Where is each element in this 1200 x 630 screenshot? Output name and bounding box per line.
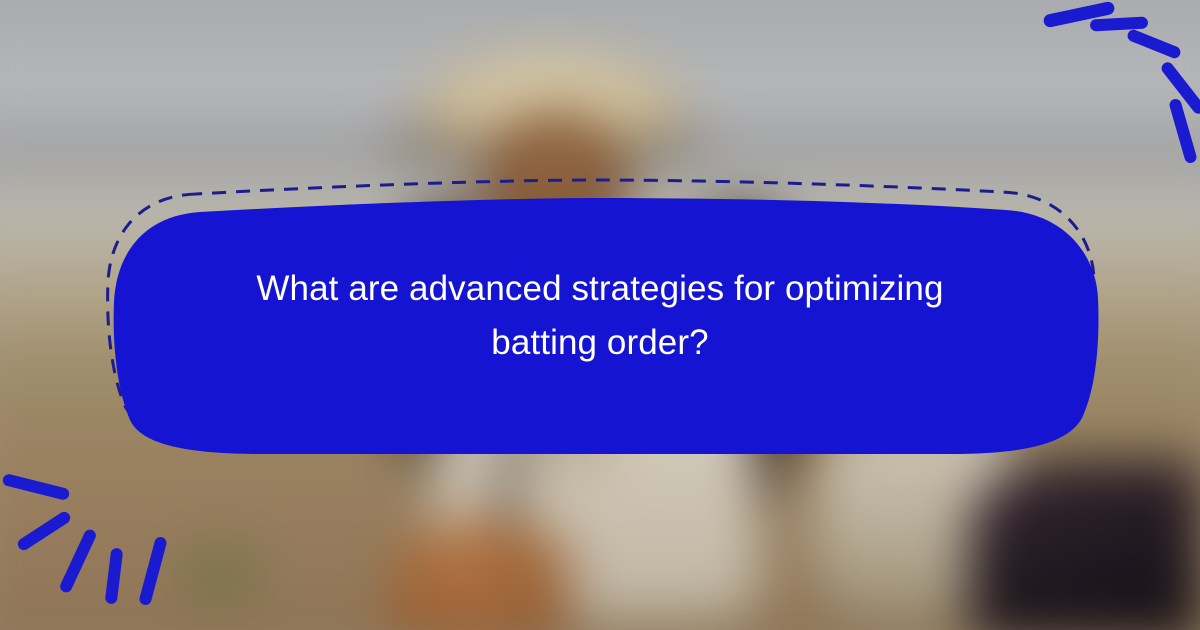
foreground-green-shape (180, 545, 260, 600)
question-headline: What are advanced strategies for optimiz… (206, 262, 994, 371)
foreground-dark-shape (970, 460, 1200, 630)
question-text-container: What are advanced strategies for optimiz… (96, 178, 1104, 454)
foreground-orange-shape (390, 520, 570, 630)
question-card: What are advanced strategies for optimiz… (96, 178, 1104, 454)
social-card-canvas: What are advanced strategies for optimiz… (0, 0, 1200, 630)
